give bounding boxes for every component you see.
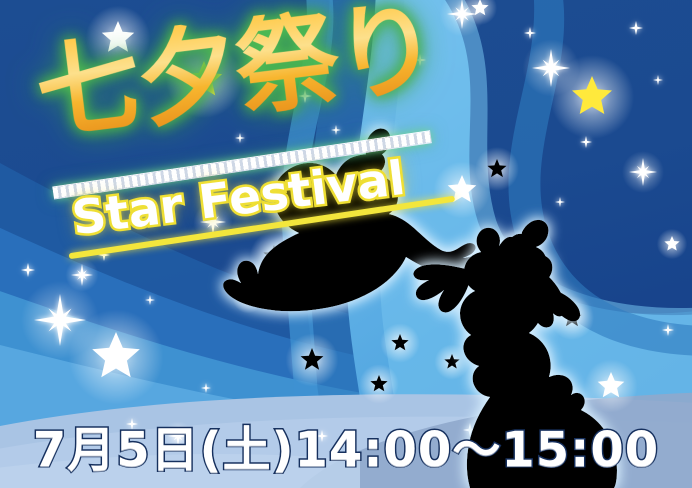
figures-layer <box>0 0 692 488</box>
taanabata-poster: 七夕祭り 七夕祭り Star Festival 7月5日(土)14:00〜15:… <box>0 0 692 488</box>
